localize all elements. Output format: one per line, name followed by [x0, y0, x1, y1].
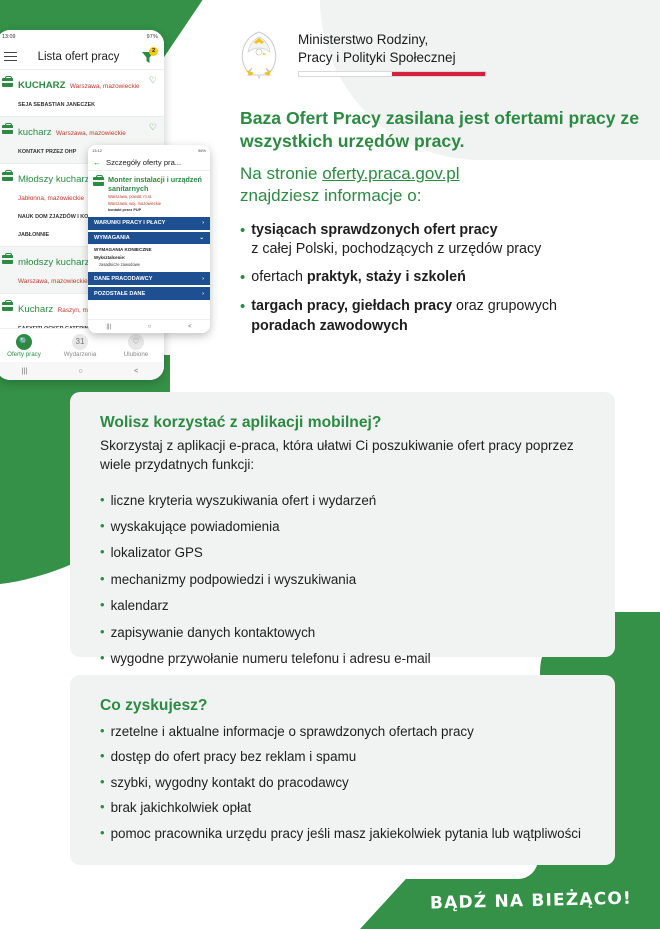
card-mobile-app: Wolisz korzystać z aplikacji mobilnej? S… — [70, 392, 615, 657]
page-title: Szczegóły oferty pra... — [106, 158, 181, 167]
bottom-navigation: 🔍 Oferty pracy 31 Wydarzenia ♡ Ulubione — [0, 328, 164, 362]
briefcase-icon — [93, 177, 104, 186]
bullet-dot-icon: • — [100, 570, 105, 589]
recents-button[interactable]: ||| — [106, 324, 111, 330]
heart-icon: ♡ — [128, 334, 144, 350]
list-item: •dostęp do ofert pracy bez reklam i spam… — [100, 747, 585, 766]
bullet-dot-icon: • — [100, 798, 105, 817]
briefcase-icon — [2, 78, 13, 87]
bullet-dot-icon: • — [240, 268, 245, 288]
bullet-dot-icon: • — [100, 596, 105, 615]
job-location: Jabłonna, mazowieckie — [18, 195, 84, 202]
section-warunki-pracy-i-placy[interactable]: WARUNKI PRACY I PŁACY › — [88, 217, 210, 230]
status-time: 13:09 — [2, 34, 16, 40]
job-location: Warszawa, mazowieckie — [70, 83, 140, 90]
section-pozostale-dane[interactable]: POZOSTAŁE DANE › — [88, 287, 210, 300]
list-item: •kalendarz — [100, 596, 585, 615]
phone-mockup-offer-detail: 13:12 96% ← Szczegóły oferty pra... Mont… — [88, 145, 210, 333]
bullet-dot-icon: • — [240, 221, 245, 260]
job-company: KONTAKT PRZEZ OHP — [18, 149, 76, 155]
offer-location-line1: Warszawa, powiat: m.st. — [108, 194, 205, 199]
hamburger-menu-icon[interactable] — [4, 49, 17, 63]
sidebar-item-oferty-pracy[interactable]: 🔍 Oferty pracy — [0, 329, 52, 362]
chevron-down-icon: ⌄ — [199, 235, 204, 241]
bullet-dot-icon: • — [100, 722, 105, 741]
hero-bullet-1-bold: tysiącach sprawdzonych ofert pracy — [251, 222, 497, 238]
bullet-dot-icon: • — [100, 649, 105, 668]
hero-sub-before: Na stronie — [240, 164, 322, 183]
app-bar: Lista ofert pracy 2 — [0, 44, 164, 70]
offer-location-line2: Warszawa, woj. mazowieckie — [108, 201, 205, 206]
card-benefits: Co zyskujesz? •rzetelne i aktualne infor… — [70, 675, 615, 865]
list-item: •liczne kryteria wyszukiwania ofert i wy… — [100, 491, 585, 510]
requirements-heading: WYMAGANIA KONIECZNE — [94, 247, 204, 252]
polish-flag-bar — [298, 71, 486, 77]
hero-bullet-1: • tysiącach sprawdzonych ofert pracy z c… — [240, 221, 640, 260]
bullet-dot-icon: • — [240, 297, 245, 336]
hero-sub-after: znajdziesz informacje o: — [240, 186, 421, 205]
polish-eagle-emblem-icon — [232, 28, 286, 82]
calendar-31-icon: 31 — [72, 334, 88, 350]
list-item: •pomoc pracownika urzędu pracy jeśli mas… — [100, 824, 585, 843]
job-title: kucharz — [18, 127, 52, 138]
heart-outline-icon[interactable]: ♡ — [149, 75, 157, 111]
list-item: •wyskakujące powiadomienia — [100, 517, 585, 536]
status-bar: 13:09 97% — [0, 30, 164, 44]
arrow-left-icon[interactable]: ← — [93, 158, 101, 167]
list-item: •zapisywanie danych kontaktowych — [100, 623, 585, 642]
bullet-dot-icon: • — [100, 623, 105, 642]
list-item: •szybki, wygodny kontakt do pracodawcy — [100, 773, 585, 792]
recents-button[interactable]: ||| — [22, 368, 27, 375]
ministry-name-line2: Pracy i Polityki Społecznej — [298, 49, 486, 67]
education-value: zasadnicze zawodowe — [94, 262, 204, 267]
hero-bullet-2: • ofertach praktyk, staży i szkoleń — [240, 268, 640, 288]
list-item: •lokalizator GPS — [100, 543, 585, 562]
back-button[interactable]: < — [188, 324, 192, 330]
card-benefits-bullets: •rzetelne i aktualne informacje o sprawd… — [100, 722, 585, 843]
card-app-lead: Skorzystaj z aplikacji e-praca, która uł… — [100, 437, 585, 475]
android-system-nav: ||| ○ < — [88, 319, 210, 333]
offer-contact-note: kontakt przez PUP — [108, 208, 205, 212]
hero-bullet-3-line2: poradach zawodowych — [251, 318, 408, 334]
section-dane-pracodawcy[interactable]: DANE PRACODAWCY › — [88, 272, 210, 285]
job-title: młodszy kucharz — [18, 257, 89, 268]
job-title: Kucharz — [18, 304, 53, 315]
list-item: •wygodne przywołanie numeru telefonu i a… — [100, 649, 585, 668]
hero-bullet-3-rest: oraz grupowych — [452, 298, 557, 314]
bullet-dot-icon: • — [100, 747, 105, 766]
list-item: •brak jakichkolwiek opłat — [100, 798, 585, 817]
hero-bullet-3: • targach pracy, giełdach pracy oraz gru… — [240, 297, 640, 336]
bullet-dot-icon: • — [100, 773, 105, 792]
hero-bullet-2-bold: praktyk, staży i szkoleń — [307, 269, 466, 285]
job-title: Młodszy kucharz — [18, 174, 89, 185]
hero-subtext: Na stronie oferty.praca.gov.pl znajdzies… — [240, 163, 640, 207]
chevron-right-icon: › — [202, 291, 204, 297]
sidebar-item-ulubione[interactable]: ♡ Ulubione — [108, 329, 164, 362]
home-button[interactable]: ○ — [79, 368, 83, 375]
flag-red — [392, 72, 485, 76]
job-location: Warszawa, mazowieckie — [18, 278, 88, 285]
chevron-right-icon: › — [202, 276, 204, 282]
hero-bullet-1-line2: z całej Polski, pochodzących z urzędów p… — [251, 241, 541, 257]
ministry-logo-block: Ministerstwo Rodziny, Pracy i Polityki S… — [232, 28, 486, 82]
briefcase-icon — [2, 302, 13, 311]
hero-bullet-3-bold: targach pracy, giełdach pracy — [251, 298, 452, 314]
offer-header: Monter instalacji i urządzeń sanitarnych… — [88, 171, 210, 215]
bullet-dot-icon: • — [100, 491, 105, 510]
funnel-filter-icon[interactable]: 2 — [140, 49, 156, 65]
page-title: Lista ofert pracy — [25, 51, 132, 63]
offer-title: Monter instalacji i urządzeń sanitarnych — [108, 176, 205, 193]
table-row[interactable]: KUCHARZ Warszawa, mazowieckie SEJA SEBAS… — [0, 70, 164, 117]
card-app-bullets: •liczne kryteria wyszukiwania ofert i wy… — [100, 491, 585, 669]
card-benefits-heading: Co zyskujesz? — [100, 697, 585, 715]
hero-bullet-list: • tysiącach sprawdzonych ofert pracy z c… — [240, 221, 640, 336]
oferty-praca-link[interactable]: oferty.praca.gov.pl — [322, 164, 459, 183]
education-label: Wykształcenie: — [94, 255, 204, 260]
job-location: Warszawa, mazowieckie — [56, 130, 126, 137]
hero-heading: Baza Ofert Pracy zasilana jest ofertami … — [240, 107, 640, 152]
ministry-name-line1: Ministerstwo Rodziny, — [298, 31, 486, 49]
android-system-nav: ||| ○ < — [0, 362, 164, 380]
requirements-body: WYMAGANIA KONIECZNE Wykształcenie: zasad… — [88, 244, 210, 270]
sidebar-item-wydarzenia[interactable]: 31 Wydarzenia — [52, 329, 108, 362]
back-button[interactable]: < — [134, 368, 138, 375]
status-battery: 97% — [147, 34, 158, 40]
bullet-dot-icon: • — [100, 517, 105, 536]
home-button[interactable]: ○ — [148, 324, 152, 330]
app-bar: ← Szczegóły oferty pra... — [88, 155, 210, 171]
briefcase-icon — [2, 125, 13, 134]
status-bar: 13:12 96% — [88, 145, 210, 155]
briefcase-icon — [2, 255, 13, 264]
bullet-dot-icon: • — [100, 543, 105, 562]
card-app-heading: Wolisz korzystać z aplikacji mobilnej? — [100, 414, 585, 432]
filter-count-badge: 2 — [149, 47, 158, 56]
search-icon: 🔍 — [16, 334, 32, 350]
poster-canvas: BĄDŹ NA BIEŻĄCO! Ministerstwo Rodziny, P… — [0, 0, 660, 929]
list-item: •mechanizmy podpowiedzi i wyszukiwania — [100, 570, 585, 589]
job-title: KUCHARZ — [18, 80, 65, 91]
bullet-dot-icon: • — [100, 824, 105, 843]
flag-white — [299, 72, 392, 76]
chevron-right-icon: › — [202, 220, 204, 226]
list-item: •rzetelne i aktualne informacje o sprawd… — [100, 722, 585, 741]
status-battery: 96% — [198, 148, 206, 153]
hero-bullet-2-pre: ofertach — [251, 269, 307, 285]
section-wymagania[interactable]: WYMAGANIA ⌄ — [88, 232, 210, 245]
hero-block: Baza Ofert Pracy zasilana jest ofertami … — [240, 107, 640, 345]
job-company: SEJA SEBASTIAN JANECZEK — [18, 102, 95, 108]
briefcase-icon — [2, 172, 13, 181]
status-time: 13:12 — [92, 148, 102, 153]
